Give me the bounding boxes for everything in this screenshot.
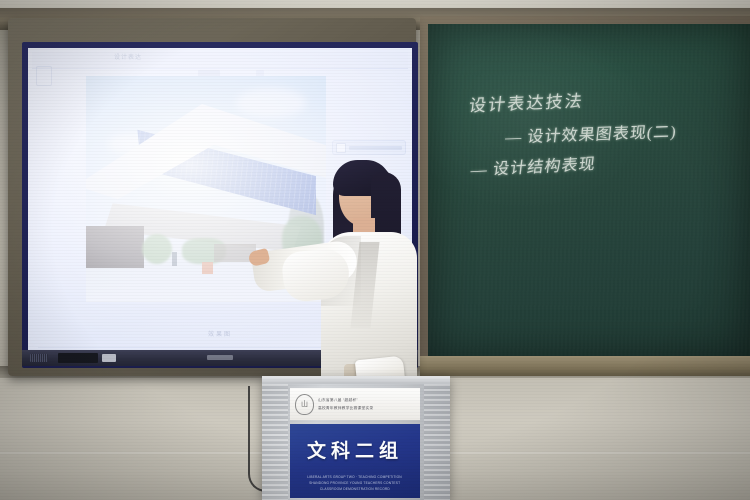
plate-subtext-block: LIBERAL ARTS GROUP TWO · TEACHING COMPET…	[302, 475, 407, 491]
slide-caption: 效果图	[208, 329, 232, 338]
shrub-icon	[142, 234, 172, 264]
blackboard-surface: 设计表达技法 — 设计效果图表现(二) — 设计结构表现	[428, 24, 750, 358]
banner-line-1: 山东省第八届 “超越杯”	[318, 397, 407, 403]
chalk-line-1: 设计表达技法	[468, 81, 724, 117]
classroom-scene: 设计表达技法 — 设计效果图表现(二) — 设计结构表现 设计表达	[0, 0, 750, 500]
banner-line-2: 高校青年教师教学比赛课堂实录	[318, 405, 407, 411]
group-name-plate: 文科二组 LIBERAL ARTS GROUP TWO · TEACHING C…	[290, 424, 420, 498]
blackboard-writing: 设计表达技法 — 设计效果图表现(二) — 设计结构表现	[462, 86, 722, 174]
badge-icon	[336, 143, 346, 153]
slide-app-topbar	[32, 52, 408, 69]
slide-tool-icon[interactable]	[36, 66, 52, 86]
plate-subline-3: CLASSROOM DEMONSTRATION RECORD	[320, 487, 390, 491]
blackboard-texture	[428, 24, 750, 358]
slide-title: 设计表达	[114, 52, 142, 61]
chalk-line-2: — 设计效果图表现(二)	[504, 116, 723, 148]
slide-badge[interactable]	[332, 140, 406, 155]
plate-subline-1: LIBERAL ARTS GROUP TWO · TEACHING COMPET…	[308, 475, 403, 479]
render-accent-object	[202, 262, 213, 274]
badge-label	[349, 146, 402, 150]
render-figure	[172, 252, 177, 266]
lectern-top	[262, 376, 450, 384]
chalk-tray	[420, 356, 750, 376]
speaker-grille-icon	[30, 354, 48, 362]
banner-text-block: 山东省第八届 “超越杯” 高校青年教师教学比赛课堂实录	[318, 397, 415, 411]
blackboard: 设计表达技法 — 设计效果图表现(二) — 设计结构表现	[420, 16, 750, 376]
teacher-figure	[255, 158, 425, 386]
competition-banner: 山 山东省第八届 “超越杯” 高校青年教师教学比赛课堂实录	[290, 388, 420, 420]
render-foreground-block	[86, 226, 144, 268]
plate-subline-2: SHANDONG PROVINCE YOUNG TEACHERS CONTEST	[309, 481, 400, 485]
organization-logo-icon: 山	[295, 394, 314, 415]
group-name-label: 文科二组	[307, 436, 403, 463]
lectern-side-left	[262, 384, 288, 500]
brand-logo	[207, 355, 233, 360]
lectern-side-right	[424, 384, 450, 500]
cloud-icon	[236, 88, 306, 118]
lectern: 山 山东省第八届 “超越杯” 高校青年教师教学比赛课堂实录 文科二组 LIBER…	[262, 376, 450, 500]
power-button[interactable]	[102, 354, 116, 362]
control-panel[interactable]	[58, 353, 98, 363]
